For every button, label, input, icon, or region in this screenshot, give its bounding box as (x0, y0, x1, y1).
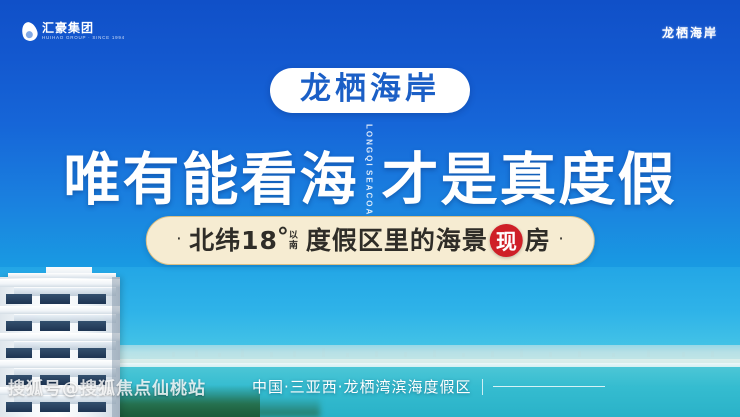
subtitle-segment-房: 房 (525, 228, 551, 253)
brand-logo-left-name: 汇豪集团 (42, 22, 108, 34)
headline-vertical-line1: LONGQI (365, 124, 374, 168)
subtitle-segment-latitude: 北纬18 (189, 228, 278, 253)
brand-logo-left: 汇豪集团 HUIHAO GROUP · SINCE 1994 (22, 22, 108, 41)
subtitle-stacked-line2: 南 (289, 241, 298, 250)
brand-logo-right: 龙栖海岸 (662, 24, 718, 41)
tower-floor (0, 279, 120, 306)
location-caption-text: 中国·三亚西·龙栖湾滨海度假区 (252, 376, 472, 397)
subtitle-stacked-note: 以 南 (289, 231, 298, 249)
subtitle-band: · 北纬18 ° 以 南 度假区里的海景 现 房 · (146, 216, 595, 265)
subtitle-highlight-badge: 现 (490, 224, 523, 257)
watermark: 搜狐号@搜狐焦点仙桃站 (8, 374, 206, 399)
caption-rule-line (493, 386, 605, 387)
subtitle-dot-left: · (176, 229, 182, 248)
degree-symbol: ° (278, 224, 288, 249)
brand-logo-right-name: 龙栖海岸 (662, 24, 718, 41)
headline-left: 唯有能看海 (64, 149, 359, 212)
headline-vertical-english: LONGQI SEACOAST (365, 124, 374, 230)
poster-root: 汇豪集团 HUIHAO GROUP · SINCE 1994 龙栖海岸 龙栖海岸… (0, 0, 740, 417)
tower-roof-rail (8, 273, 116, 278)
brand-logo-left-subtitle: HUIHAO GROUP · SINCE 1994 (42, 37, 125, 41)
project-name-pill: 龙栖海岸 (270, 68, 470, 113)
tower-floor (0, 306, 120, 333)
location-caption: 中国·三亚西·龙栖湾滨海度假区 (252, 376, 605, 397)
subtitle-dot-right: · (558, 229, 564, 248)
subtitle-segment-resort: 度假区里的海景 (306, 228, 488, 253)
water-drop-icon (20, 20, 40, 42)
caption-divider (482, 379, 483, 395)
tower-floor (0, 333, 120, 360)
headline-right: 才是真度假 (382, 149, 677, 212)
project-name-text: 龙栖海岸 (300, 72, 440, 107)
